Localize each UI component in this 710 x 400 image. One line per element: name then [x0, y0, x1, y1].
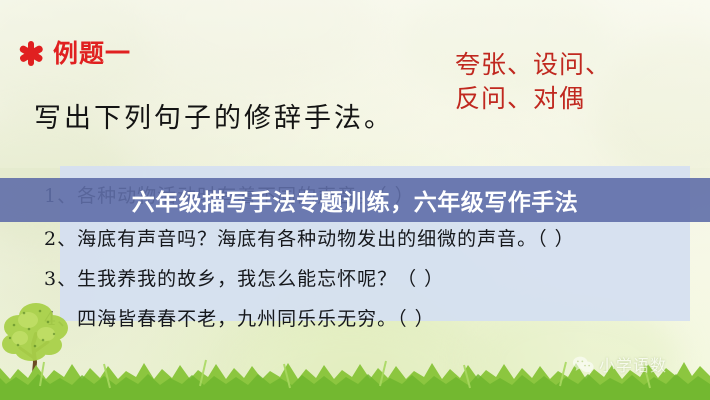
- answer-keywords: 夸张、设问、 反问、对偶: [455, 48, 611, 116]
- title-banner-text: 六年级描写手法专题训练，六年级写作手法: [0, 178, 710, 222]
- answer-keywords-line-2: 反问、对偶: [455, 82, 611, 116]
- slide-canvas: 例题一 写出下列句子的修辞手法。 夸张、设问、 反问、对偶 1、各种动物活动时有…: [0, 0, 710, 400]
- watermark-text: 小学语数: [599, 352, 667, 376]
- red-asterisk-icon: [18, 40, 44, 66]
- question-line-2: 2、海底有声音吗？海底有各种动物发出的细微的声音。（ ）: [44, 224, 575, 251]
- wechat-icon: [572, 355, 594, 374]
- question-line-3: 3、生我养我的故乡，我怎么能忘怀呢？（ ）: [44, 264, 444, 291]
- prompt-text: 写出下列句子的修辞手法。: [34, 96, 394, 135]
- watermark: 小学语数: [572, 352, 667, 376]
- answer-keywords-line-1: 夸张、设问、: [455, 48, 611, 82]
- example-heading: 例题一: [18, 40, 131, 66]
- question-line-4: 4、四海皆春春不老，九州同乐乐无穷。（ ）: [44, 304, 435, 331]
- example-heading-label: 例题一: [53, 41, 131, 66]
